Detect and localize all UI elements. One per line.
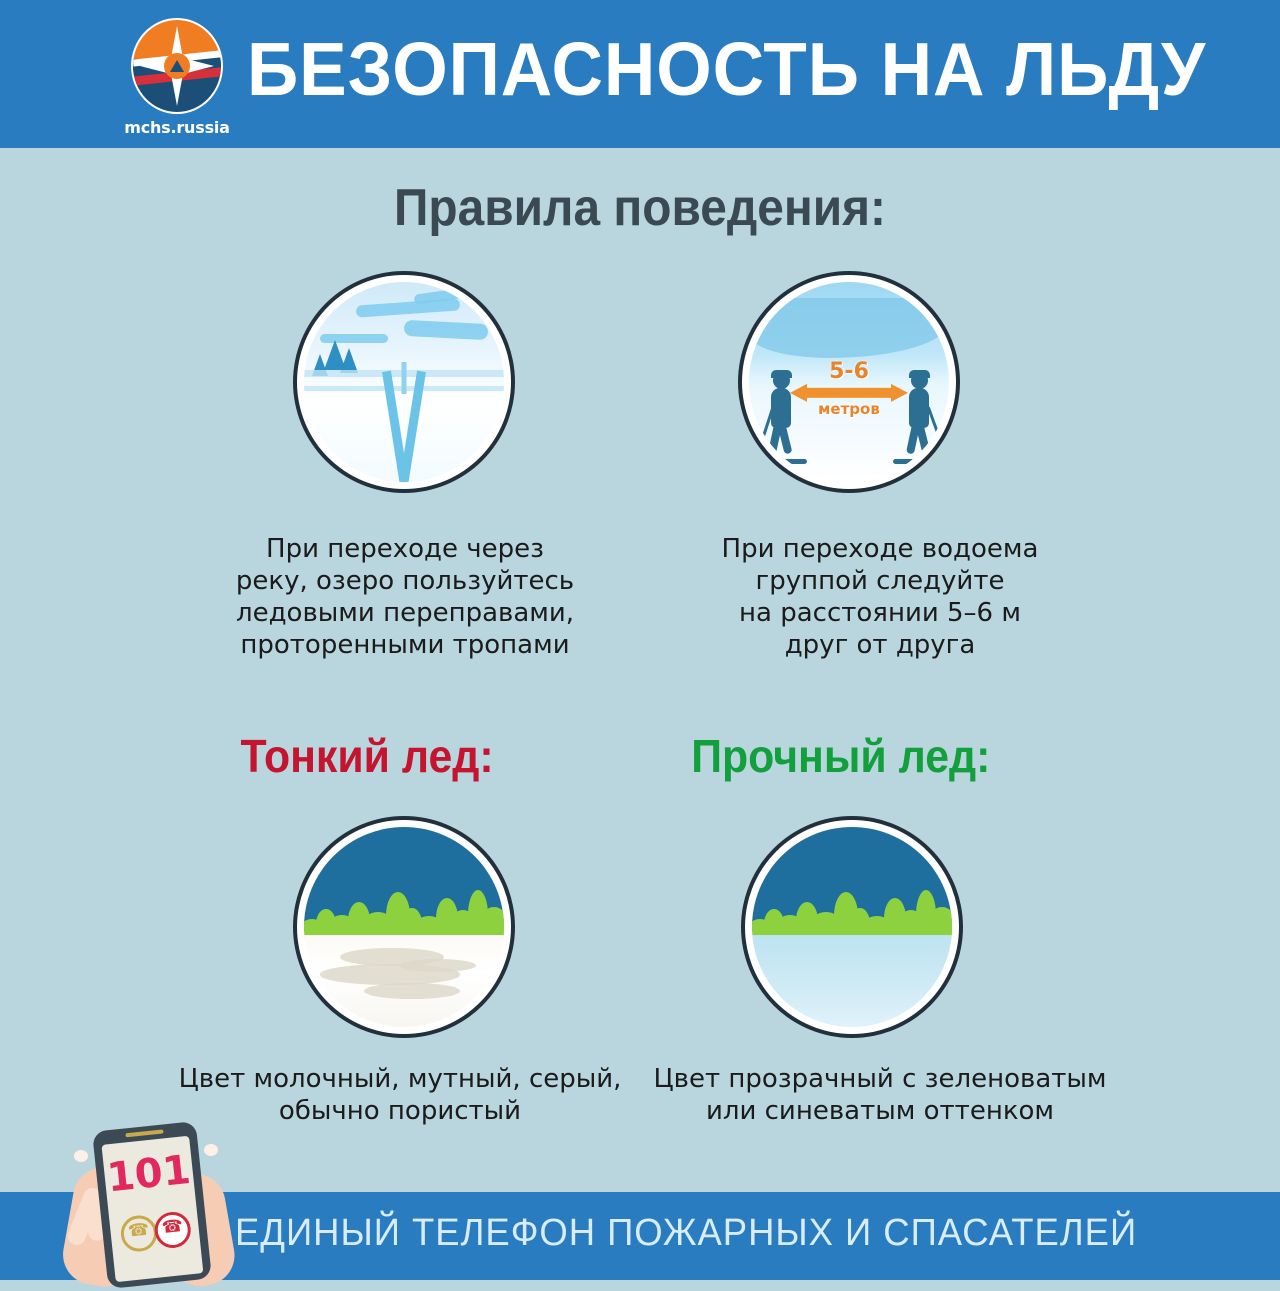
caption-line: Цвет молочный, мутный, серый, xyxy=(150,1063,650,1095)
distance-unit: метров xyxy=(790,400,908,418)
thin-ice-caption: Цвет молочный, мутный, серый, обычно пор… xyxy=(150,1063,650,1127)
skier-head xyxy=(773,372,790,389)
mchs-logo: mchs.russia xyxy=(112,18,242,138)
snow-scene xyxy=(304,282,504,482)
emblem-triangle-icon xyxy=(164,53,190,79)
smartphone: 101 ☎ ☎ xyxy=(92,1121,212,1289)
caption-line: ледовыми переправами, xyxy=(160,597,650,629)
rule-caption-1: При переходе через реку, озеро пользуйте… xyxy=(160,533,650,661)
tree-line xyxy=(304,887,504,939)
snow-hill xyxy=(749,298,949,358)
cloud xyxy=(356,298,461,317)
phone-screen: 101 ☎ ☎ xyxy=(101,1136,203,1282)
skier-leg xyxy=(915,423,930,454)
double-arrow-icon xyxy=(790,384,908,402)
strong-ice-scene xyxy=(752,827,952,1027)
hands-holding-phone-illustration: 101 ☎ ☎ xyxy=(28,1120,258,1280)
arrow-head-right xyxy=(891,384,908,402)
caption-line: друг от друга xyxy=(645,629,1115,661)
ski-pole xyxy=(927,407,944,447)
distance-value: 5-6 xyxy=(790,362,908,382)
skiers-scene: 5-6 метров xyxy=(749,282,949,482)
page-header: mchs.russia БЕЗОПАСНОСТЬ НА ЛЬДУ xyxy=(0,0,1280,148)
ski-board xyxy=(893,459,939,464)
strong-ice-image xyxy=(748,823,956,1031)
caption-line: При переходе через xyxy=(160,533,650,565)
phone-decline-icon[interactable]: ☎ xyxy=(153,1210,193,1250)
mchs-emblem-icon xyxy=(131,18,223,114)
skier-head xyxy=(911,372,928,389)
skier-leg xyxy=(777,423,792,454)
caption-line: реку, озеро пользуйтесь xyxy=(160,565,650,597)
distance-indicator: 5-6 метров xyxy=(790,362,908,418)
ski-board xyxy=(761,459,807,464)
thin-ice-scene xyxy=(304,827,504,1027)
logo-caption: mchs.russia xyxy=(124,118,230,137)
strong-ice-surface xyxy=(752,935,952,1027)
footer-text: ЕДИНЫЙ ТЕЛЕФОН ПОЖАРНЫХ И СПАСАТЕЛЕЙ xyxy=(235,1212,1224,1255)
page-title: БЕЗОПАСНОСТЬ НА ЛЬДУ xyxy=(247,26,1206,112)
skier-silhouette-right xyxy=(903,370,937,454)
cloud xyxy=(404,320,489,340)
fingernail xyxy=(74,1150,88,1162)
rule-image-ski-track xyxy=(300,278,508,486)
tree-line xyxy=(752,887,952,939)
ice-patch xyxy=(364,983,460,1000)
caption-line: на расстоянии 5–6 м xyxy=(645,597,1115,629)
ice-patch xyxy=(400,959,476,972)
emergency-number: 101 xyxy=(103,1150,195,1199)
rule-image-skiers-distance: 5-6 метров xyxy=(745,278,953,486)
caption-line: группой следуйте xyxy=(645,565,1115,597)
thin-ice-surface xyxy=(304,935,504,1027)
caption-line: или синеватым оттенком xyxy=(635,1095,1125,1127)
caption-line: проторенными тропами xyxy=(160,629,650,661)
section-title: Правила поведения: xyxy=(51,178,1229,238)
fingernail xyxy=(204,1144,218,1156)
arrow-head-left xyxy=(790,384,807,402)
heading-strong-ice: Прочный лед: xyxy=(691,729,990,783)
ski-track-far xyxy=(402,362,407,394)
caption-line: При переходе водоема xyxy=(645,533,1115,565)
heading-thin-ice: Тонкий лед: xyxy=(241,729,494,783)
thin-ice-image xyxy=(300,823,508,1031)
phone-speaker xyxy=(126,1129,164,1137)
rule-caption-2: При переходе водоема группой следуйте на… xyxy=(645,533,1115,661)
strong-ice-caption: Цвет прозрачный с зеленоватым или синева… xyxy=(635,1063,1125,1127)
caption-line: Цвет прозрачный с зеленоватым xyxy=(635,1063,1125,1095)
phone-handset-icon[interactable]: ☎ xyxy=(119,1214,159,1254)
